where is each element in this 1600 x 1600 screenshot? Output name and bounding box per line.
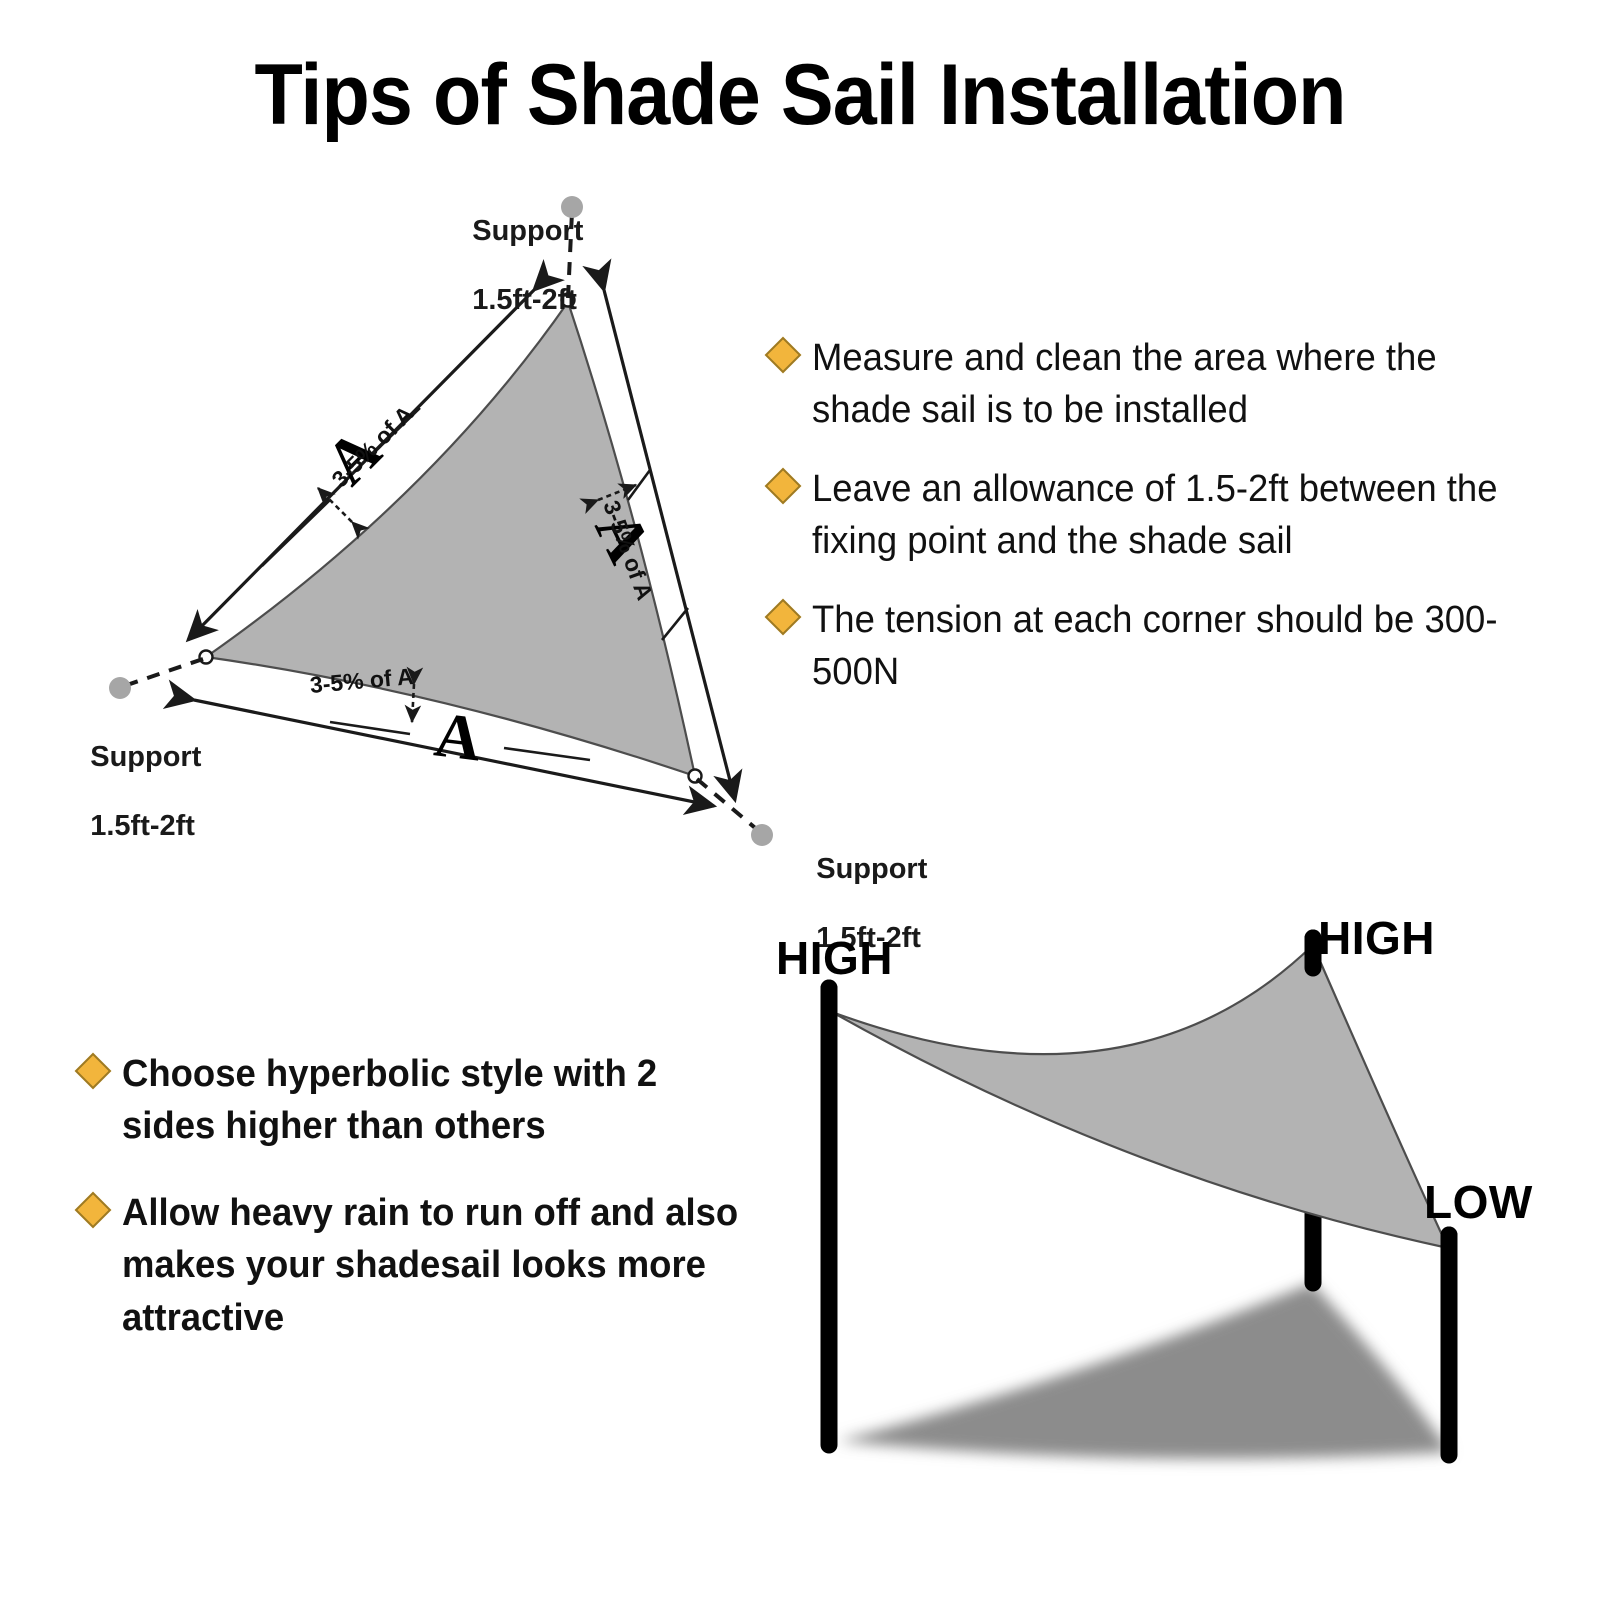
corner-ring-left bbox=[200, 651, 213, 664]
tip-text: Leave an allowance of 1.5-2ft between th… bbox=[812, 463, 1501, 568]
corner-ring-right bbox=[689, 770, 702, 783]
tether-line-right bbox=[697, 779, 760, 832]
support-dot-left bbox=[109, 677, 131, 699]
tether-line-left bbox=[124, 659, 203, 686]
tip-text: Choose hyperbolic style with 2 sides hig… bbox=[122, 1048, 754, 1153]
support-label-left-line2: 1.5ft-2ft bbox=[90, 810, 195, 842]
leader-left-lower bbox=[262, 500, 330, 566]
infographic-page: Tips of Shade Sail Installation bbox=[0, 0, 1600, 1600]
diamond-bullet-icon bbox=[765, 598, 802, 635]
sail-shadow bbox=[838, 1283, 1450, 1459]
list-item: Measure and clean the area where the sha… bbox=[770, 332, 1530, 437]
post-label-middle: HIGH bbox=[1318, 911, 1435, 965]
support-label-right-line1: Support bbox=[816, 853, 927, 885]
diamond-bullet-icon bbox=[765, 337, 802, 374]
support-label-top-line1: Support bbox=[472, 215, 583, 247]
support-label-left: Support 1.5ft-2ft bbox=[58, 706, 188, 877]
support-label-top: Support 1.5ft-2ft bbox=[440, 180, 570, 351]
leader-right-upper bbox=[628, 470, 650, 500]
support-label-left-line1: Support bbox=[90, 741, 201, 773]
leader-right-lower bbox=[662, 608, 688, 640]
list-item: Allow heavy rain to run off and also mak… bbox=[80, 1187, 780, 1344]
support-label-top-line2: 1.5ft-2ft bbox=[472, 284, 577, 316]
tip-text: Measure and clean the area where the sha… bbox=[812, 332, 1501, 437]
tips-list-right: Measure and clean the area where the sha… bbox=[770, 332, 1530, 725]
post-label-right: LOW bbox=[1424, 1175, 1533, 1229]
list-item: Leave an allowance of 1.5-2ft between th… bbox=[770, 463, 1530, 568]
diamond-bullet-icon bbox=[75, 1053, 112, 1090]
tips-list-left: Choose hyperbolic style with 2 sides hig… bbox=[80, 1048, 780, 1378]
offset-arrow-left bbox=[318, 488, 352, 522]
support-dot-right bbox=[751, 824, 773, 846]
tip-text: The tension at each corner should be 300… bbox=[812, 594, 1501, 699]
post-label-left: HIGH bbox=[776, 931, 893, 985]
tip-text: Allow heavy rain to run off and also mak… bbox=[122, 1187, 754, 1344]
list-item: The tension at each corner should be 300… bbox=[770, 594, 1530, 699]
leader-bottom-right bbox=[504, 748, 590, 760]
list-item: Choose hyperbolic style with 2 sides hig… bbox=[80, 1048, 780, 1153]
leader-bottom-left bbox=[330, 722, 410, 734]
diamond-bullet-icon bbox=[75, 1191, 112, 1228]
sail-shape-hyperbolic bbox=[832, 945, 1448, 1248]
curve-label-bottom: 3-5% of A bbox=[309, 663, 415, 699]
page-title: Tips of Shade Sail Installation bbox=[64, 50, 1536, 140]
side-label-a-bottom: A bbox=[431, 697, 486, 776]
diamond-bullet-icon bbox=[765, 467, 802, 504]
